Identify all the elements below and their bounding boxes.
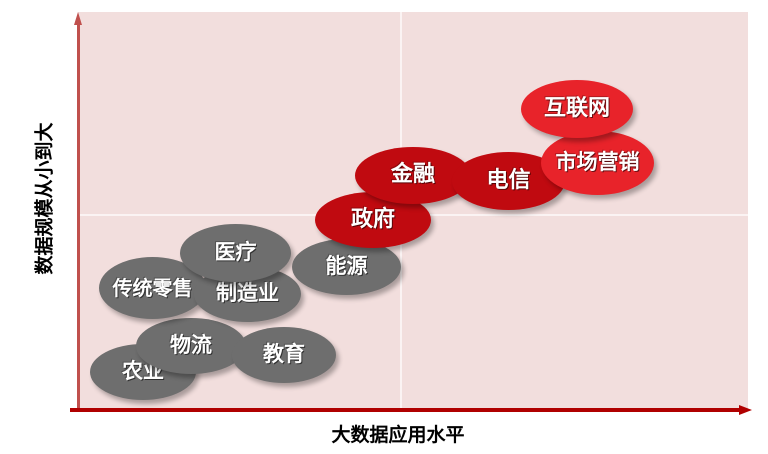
bubble-label: 医疗: [209, 242, 263, 264]
y-axis-title: 数据规模从小到大: [30, 84, 57, 314]
x-axis-title: 大数据应用水平: [0, 420, 768, 447]
x-axis-arrow-icon: [739, 405, 752, 415]
bubble-label: 政府: [345, 209, 401, 232]
bubble-layer: 农业物流教育传统零售制造业医疗能源政府金融电信市场营销互联网: [78, 12, 748, 410]
y-axis-line: [77, 21, 80, 410]
y-axis: [74, 12, 83, 410]
bubble-label: 互联网: [538, 98, 616, 121]
bubble-internet[interactable]: 互联网: [521, 80, 633, 138]
bubble-label: 教育: [257, 344, 311, 366]
bubble-label: 金融: [385, 164, 441, 187]
bubble-logistics[interactable]: 物流: [136, 318, 246, 374]
bubble-label: 制造业: [210, 283, 285, 305]
x-axis-line: [70, 408, 741, 412]
bubble-healthcare[interactable]: 医疗: [180, 224, 291, 282]
bubble-label: 市场营销: [550, 152, 646, 174]
bubble-education[interactable]: 教育: [232, 327, 336, 383]
bubble-label: 物流: [164, 335, 218, 357]
bubble-label: 电信: [480, 170, 536, 193]
bubble-label: 传统零售: [107, 278, 199, 299]
bubble-chart: 农业物流教育传统零售制造业医疗能源政府金融电信市场营销互联网 数据规模从小到大 …: [0, 0, 768, 454]
bubble-marketing[interactable]: 市场营销: [541, 131, 654, 195]
plot-area: 农业物流教育传统零售制造业医疗能源政府金融电信市场营销互联网: [78, 12, 748, 410]
bubble-label: 能源: [320, 256, 374, 278]
x-axis: [70, 405, 752, 415]
